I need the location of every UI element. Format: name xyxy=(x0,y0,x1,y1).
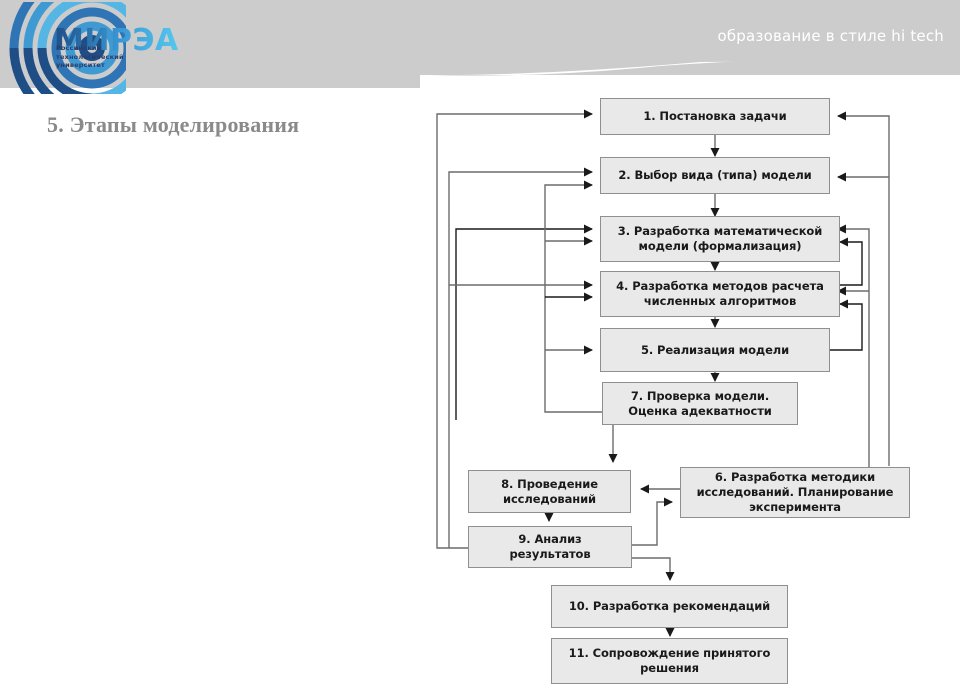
flow-box-11-line-2: решения xyxy=(640,661,699,676)
flow-box-9-line-2: результатов xyxy=(509,547,590,562)
flow-box-2[interactable]: 2. Выбор вида (типа) модели xyxy=(600,157,830,194)
flow-box-5[interactable]: 5. Реализация модели xyxy=(600,328,830,372)
flow-box-4-line-2: численных алгоритмов xyxy=(644,294,796,309)
flow-box-6-line-2: исследований. Планирование xyxy=(697,485,894,500)
feedback-right-riser-2 xyxy=(838,229,869,500)
flow-box-6-line-1: 6. Разработка методики xyxy=(715,470,875,485)
flow-box-2-line-1: 2. Выбор вида (типа) модели xyxy=(618,168,811,183)
flow-box-9-line-1: 9. Анализ xyxy=(518,532,581,547)
page-title: 5. Этапы моделирования xyxy=(47,112,299,138)
flow-box-3-line-1: 3. Разработка математической xyxy=(618,224,822,239)
flow-box-4-line-1: 4. Разработка методов расчета xyxy=(616,279,824,294)
flow-box-8[interactable]: 8. Проведение исследований xyxy=(468,470,631,513)
flow-box-7[interactable]: 7. Проверка модели. Оценка адекватности xyxy=(602,382,798,425)
flow-box-4[interactable]: 4. Разработка методов расчета численных … xyxy=(600,271,840,317)
flow-box-10[interactable]: 10. Разработка рекомендаций xyxy=(551,585,788,628)
logo-subtitle-line1: Российский xyxy=(56,44,124,53)
logo-subtitle-line3: университет xyxy=(56,61,124,70)
flow-box-9[interactable]: 9. Анализ результатов xyxy=(468,526,632,568)
mirea-logo: МИРЭА Российский технологический универс… xyxy=(6,2,206,94)
logo-subtitle: Российский технологический университет xyxy=(56,44,124,70)
flow-box-7-line-1: 7. Проверка модели. xyxy=(631,389,769,404)
arrow-9-to-10 xyxy=(632,558,670,580)
flow-box-6[interactable]: 6. Разработка методики исследований. Пла… xyxy=(680,467,910,518)
header-tagline: образование в стиле hi tech xyxy=(600,27,944,45)
flow-box-1[interactable]: 1. Постановка задачи xyxy=(600,98,830,135)
flow-box-10-line-1: 10. Разработка рекомендаций xyxy=(569,599,770,614)
flow-box-5-line-1: 5. Реализация модели xyxy=(641,343,789,358)
flow-box-11[interactable]: 11. Сопровождение принятого решения xyxy=(551,638,788,684)
arrow-9-to-6 xyxy=(632,502,672,545)
flow-box-8-line-1: 8. Проведение xyxy=(501,477,598,492)
loop-4-to-3 xyxy=(840,242,862,285)
flow-box-6-line-3: эксперимента xyxy=(749,500,841,515)
flow-box-8-line-2: исследований xyxy=(503,492,596,507)
flow-box-3-line-2: модели (формализация) xyxy=(639,239,802,254)
feedback-7-bus xyxy=(545,185,602,412)
flow-box-7-line-2: Оценка адекватности xyxy=(628,404,771,419)
flow-box-1-line-1: 1. Постановка задачи xyxy=(643,109,786,124)
flow-box-3[interactable]: 3. Разработка математической модели (фор… xyxy=(600,216,840,262)
logo-subtitle-line2: технологический xyxy=(56,53,124,62)
flow-box-11-line-1: 11. Сопровождение принятого xyxy=(569,646,771,661)
feedback-9-to-3 xyxy=(456,229,592,420)
